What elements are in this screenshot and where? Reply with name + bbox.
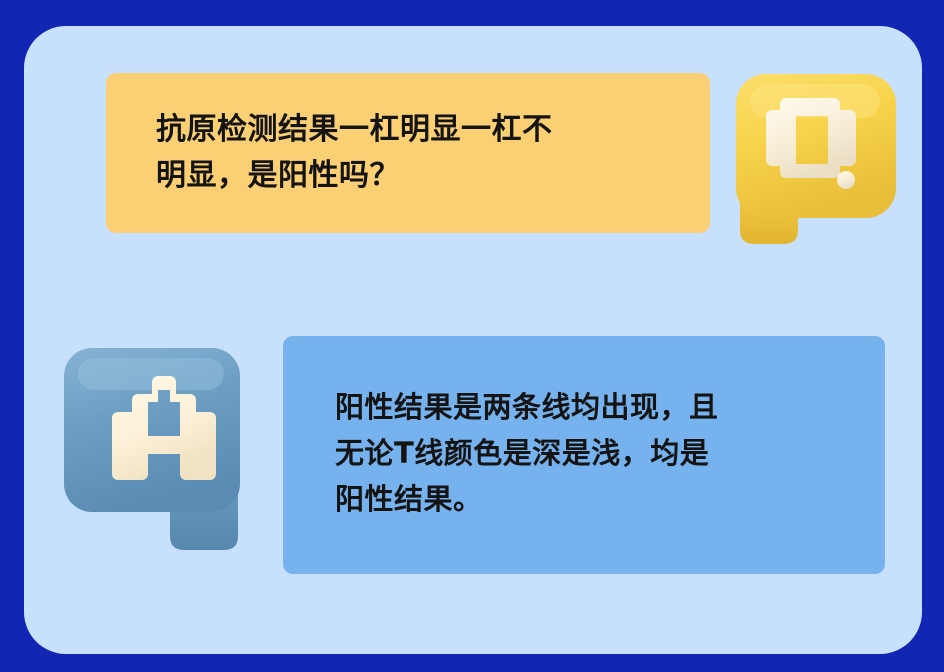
qa-card-graphic: 抗原检测结果一杠明显一杠不 明显，是阳性吗？ xyxy=(0,0,944,672)
question-card: 抗原检测结果一杠明显一杠不 明显，是阳性吗？ xyxy=(106,73,710,233)
question-text: 抗原检测结果一杠明显一杠不 明显，是阳性吗？ xyxy=(156,107,678,199)
q-speech-bubble-icon xyxy=(728,58,908,258)
answer-card: 阳性结果是两条线均出现，且 无论T线颜色是深是浅，均是 阳性结果。 xyxy=(283,336,885,574)
answer-text: 阳性结果是两条线均出现，且 无论T线颜色是深是浅，均是 阳性结果。 xyxy=(335,384,857,522)
a-speech-bubble-icon xyxy=(58,340,258,572)
